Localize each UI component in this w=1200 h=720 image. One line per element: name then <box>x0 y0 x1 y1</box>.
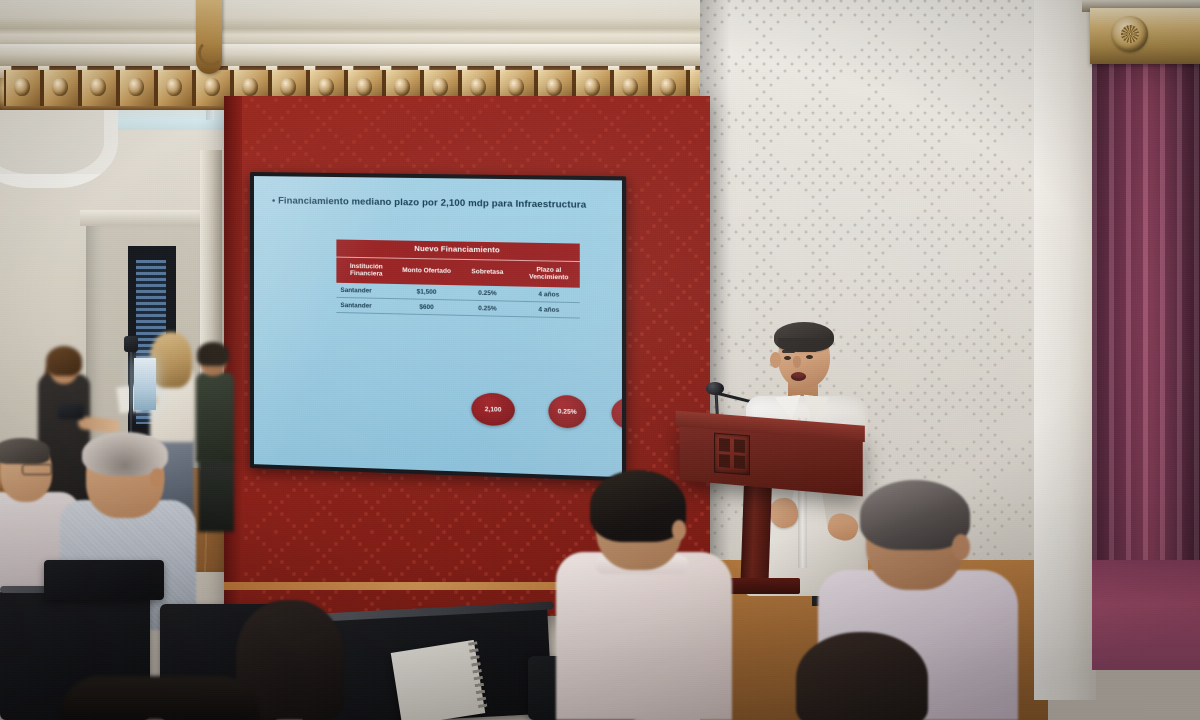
curtain-folds <box>1092 60 1200 620</box>
standing-person-dark-shirt <box>196 372 234 462</box>
presentation-slide: • Financiamiento mediano plazo por 2,100… <box>254 176 622 477</box>
speaker-hair <box>774 322 834 352</box>
mobile-phone-prop <box>58 404 84 419</box>
cell-plazo: 4 años <box>518 287 580 303</box>
spiral-notebook <box>391 640 486 720</box>
total-bubble-monto: 2,100 <box>471 392 515 426</box>
speaker-eye-left <box>784 356 791 360</box>
curtain-lower-section <box>1092 560 1200 670</box>
standing-person-dark-hair <box>197 342 229 366</box>
summary-bubbles: 2,100 0.25% 4 años <box>420 391 622 433</box>
financing-table: Nuevo Financiamiento Institución Financi… <box>336 239 579 318</box>
chair <box>44 560 164 600</box>
seated-person-foreground-right-head <box>796 632 928 720</box>
cell-institucion: Santander <box>336 298 396 314</box>
frieze-rosette-unit <box>118 70 156 106</box>
financing-table-wrapper: Nuevo Financiamiento Institución Financi… <box>336 239 579 318</box>
cell-monto: $600 <box>396 299 457 315</box>
video-light-panel <box>134 358 156 410</box>
slide-bullet-line: • Financiamiento mediano plazo por 2,100… <box>272 194 607 210</box>
column-header-monto-ofertado: Monto Ofertado <box>396 258 457 286</box>
cell-monto: $1,500 <box>396 284 457 300</box>
speaker-eye-right <box>806 355 813 359</box>
bullet-marker-icon: • <box>272 194 275 205</box>
standing-person-blonde-hair <box>150 332 192 388</box>
microphone-icon <box>706 382 724 395</box>
total-bubble-sobretasa: 0.25% <box>548 395 586 429</box>
cell-sobretasa: 0.25% <box>457 300 518 316</box>
magenta-curtain <box>1092 60 1200 620</box>
far-pillar <box>1034 0 1096 700</box>
cell-institucion: Santander <box>336 283 396 299</box>
podium-coat-of-arms-icon <box>714 433 750 476</box>
column-header-sobretasa: Sobretasa <box>457 259 518 287</box>
seated-man-right-ear <box>952 534 970 560</box>
frieze-rosette-unit <box>80 70 118 106</box>
column-header-plazo-al-vencimiento: Plazo al Vencimiento <box>518 260 580 288</box>
seated-man-blue-ear <box>150 468 164 488</box>
speaker-ear <box>770 352 781 368</box>
slide-bullet-text: Financiamiento mediano plazo por 2,100 m… <box>278 194 586 209</box>
seated-person-foreground-shoulders <box>60 676 260 720</box>
standing-woman-hair <box>46 346 82 376</box>
speaker-mouth <box>791 372 806 381</box>
standing-person-dark-legs <box>198 458 234 532</box>
column-header-institucion-financiera: Institución Financiera <box>336 257 396 285</box>
rosette-medallion-icon <box>1112 16 1148 52</box>
projection-screen: • Financiamiento mediano plazo por 2,100… <box>250 172 626 481</box>
press-conference-photo: • Financiamiento mediano plazo por 2,100… <box>0 0 1200 720</box>
seated-man-center-ear <box>672 520 686 540</box>
total-bubble-plazo: 4 años <box>611 396 622 430</box>
frieze-rosette-unit <box>42 70 80 106</box>
frieze-rosette-unit <box>156 70 194 106</box>
eyeglasses-icon <box>22 464 52 475</box>
light-stand-head <box>124 336 138 352</box>
cell-sobretasa: 0.25% <box>457 286 518 302</box>
frieze-rosette-unit <box>4 70 42 106</box>
door-lintel <box>80 210 216 226</box>
seated-man-left-hair <box>0 438 50 464</box>
screen-surface: • Financiamiento mediano plazo por 2,100… <box>254 176 622 477</box>
speaker-nose <box>793 356 801 368</box>
gilded-corbel <box>196 0 222 74</box>
seated-man-center-body <box>556 552 732 720</box>
podium-column <box>740 486 772 592</box>
cell-plazo: 4 años <box>518 302 580 319</box>
